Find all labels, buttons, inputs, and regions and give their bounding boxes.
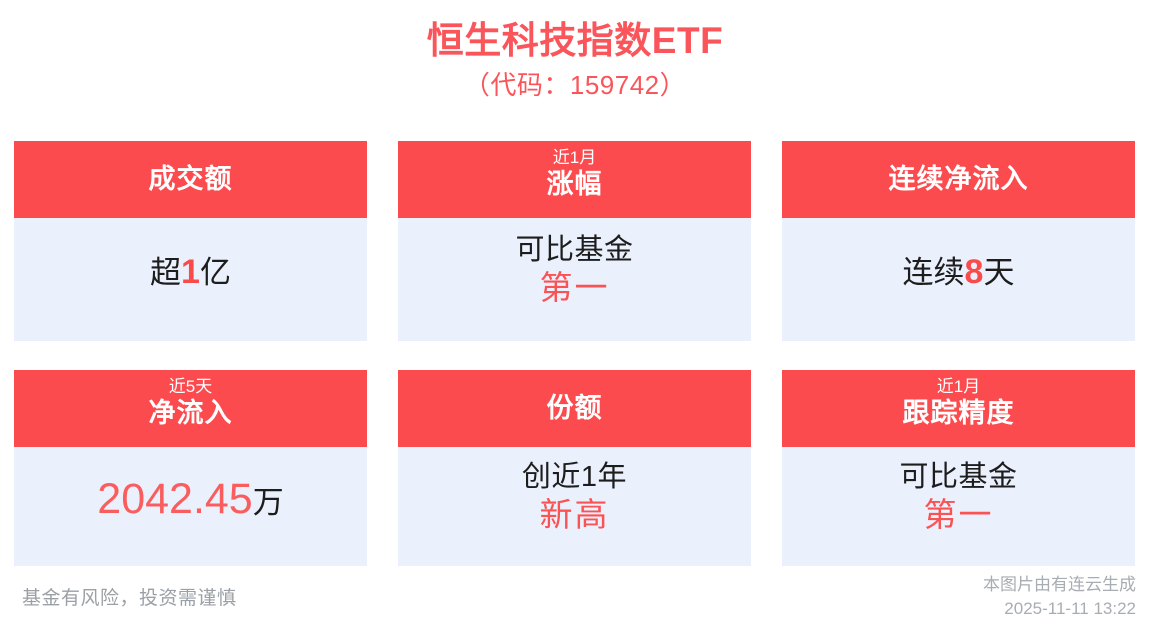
generation-timestamp: 2025-11-11 13:22	[983, 597, 1136, 622]
value-unit: 万	[253, 485, 284, 520]
card-header-title: 成交额	[149, 163, 233, 195]
value-prefix: 连续	[903, 255, 965, 290]
risk-disclaimer: 基金有风险，投资需谨慎	[22, 583, 237, 610]
card-header-period: 近5天	[169, 376, 212, 397]
card-header-net-inflow-5d: 近5天 净流入	[14, 370, 367, 447]
value-number: 2042.45	[97, 475, 252, 523]
generation-info: 本图片由有连云生成 2025-11-11 13:22	[983, 573, 1136, 622]
metric-card-tracking-accuracy-1m: 近1月 跟踪精度 可比基金 第一	[782, 370, 1135, 566]
card-value-consecutive-net-inflow: 连续8天	[903, 252, 1015, 293]
metric-card-grid: 成交额 超1亿 近1月 涨幅 可比基金 第一 连续净流入 连续8天 近5天 净流…	[14, 141, 1136, 566]
card-value-line2: 第一	[924, 495, 994, 535]
value-prefix: 超	[150, 255, 181, 290]
card-body-consecutive-net-inflow: 连续8天	[782, 218, 1135, 341]
card-header-consecutive-net-inflow: 连续净流入	[782, 141, 1135, 218]
card-header-tracking-accuracy-1m: 近1月 跟踪精度	[782, 370, 1135, 447]
card-value-turnover: 超1亿	[150, 252, 231, 293]
value-highlight: 8	[965, 253, 984, 291]
card-header-title: 份额	[547, 392, 603, 424]
card-value-line1: 可比基金	[515, 233, 633, 268]
card-header-turnover: 成交额	[14, 141, 367, 218]
value-suffix: 亿	[200, 255, 231, 290]
card-value-line2: 新高	[540, 495, 610, 535]
page-title: 恒生科技指数ETF	[0, 18, 1150, 64]
card-value-net-inflow-5d: 2042.45万	[97, 474, 283, 526]
value-highlight: 1	[181, 253, 200, 291]
metric-card-shares: 份额 创近1年 新高	[398, 370, 751, 566]
generation-source: 本图片由有连云生成	[983, 573, 1136, 598]
card-body-gain-1m: 可比基金 第一	[398, 218, 751, 341]
metric-card-gain-1m: 近1月 涨幅 可比基金 第一	[398, 141, 751, 341]
value-suffix: 天	[983, 255, 1014, 290]
card-body-shares: 创近1年 新高	[398, 447, 751, 566]
metric-card-consecutive-net-inflow: 连续净流入 连续8天	[782, 141, 1135, 341]
card-body-tracking-accuracy-1m: 可比基金 第一	[782, 447, 1135, 566]
metric-card-net-inflow-5d: 近5天 净流入 2042.45万	[14, 370, 367, 566]
card-header-period: 近1月	[937, 376, 980, 397]
card-header-title: 涨幅	[547, 168, 603, 200]
card-value-line1: 创近1年	[522, 460, 627, 495]
card-header-period: 近1月	[553, 147, 596, 168]
card-value-line2: 第一	[540, 268, 610, 308]
card-header-gain-1m: 近1月 涨幅	[398, 141, 751, 218]
card-header-shares: 份额	[398, 370, 751, 447]
metric-card-turnover: 成交额 超1亿	[14, 141, 367, 341]
card-header-title: 跟踪精度	[903, 397, 1015, 429]
fund-code-subtitle: （代码：159742）	[0, 68, 1150, 103]
card-header-title: 连续净流入	[889, 163, 1029, 195]
card-value-line1: 可比基金	[899, 460, 1017, 495]
card-body-turnover: 超1亿	[14, 218, 367, 341]
card-header-title: 净流入	[149, 397, 233, 429]
page-header: 恒生科技指数ETF （代码：159742）	[0, 0, 1150, 103]
card-body-net-inflow-5d: 2042.45万	[14, 447, 367, 566]
